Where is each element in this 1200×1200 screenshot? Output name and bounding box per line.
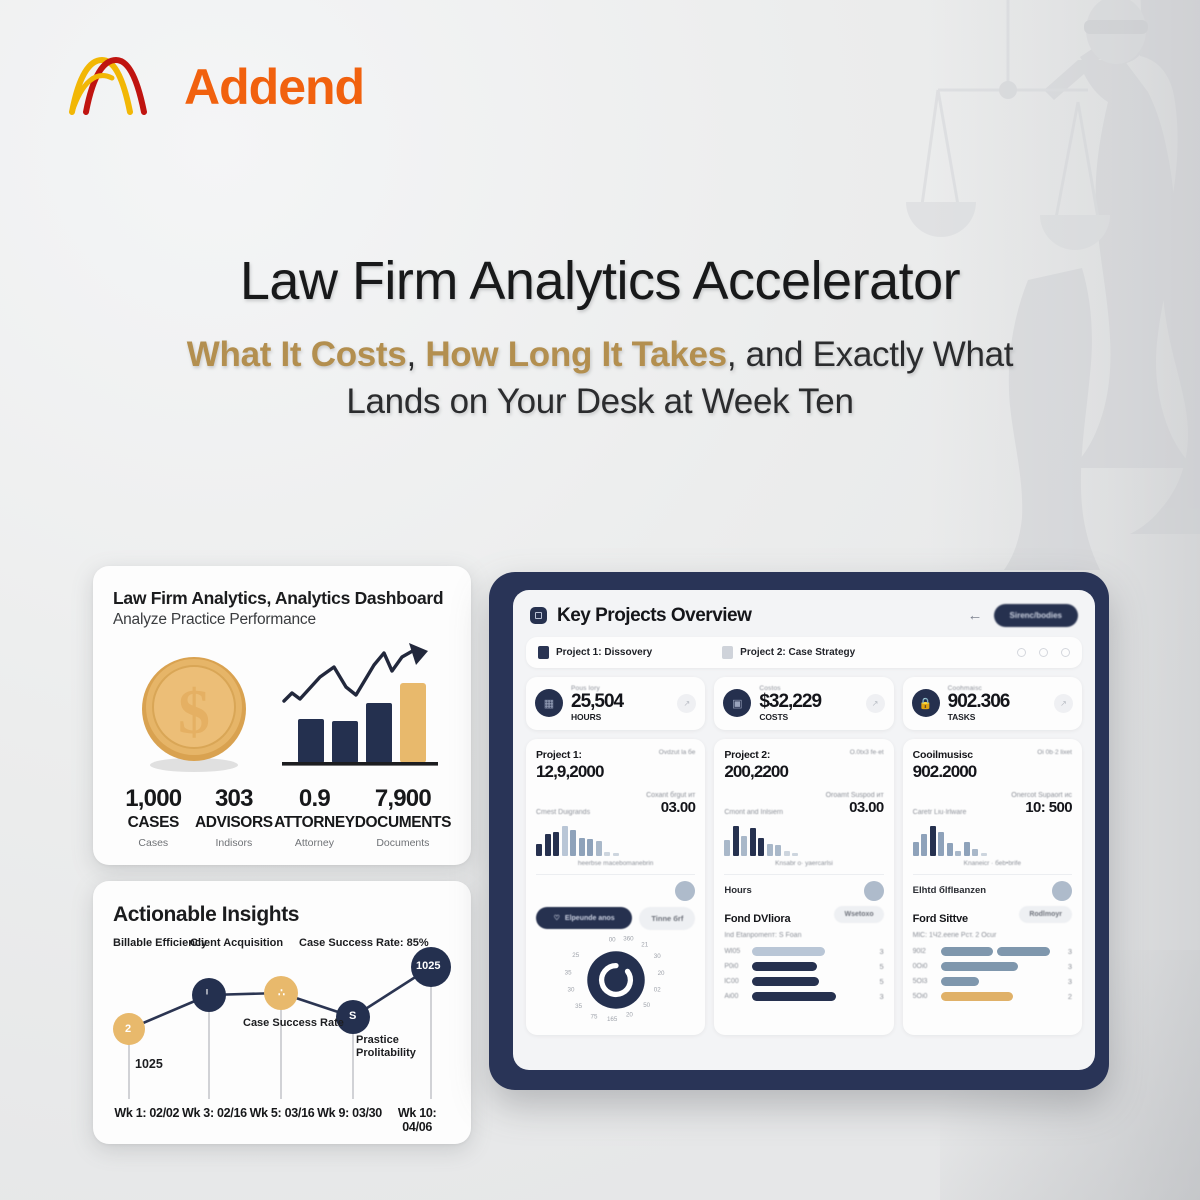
kpi-value: 902.306 [948, 692, 1046, 712]
panel-mid: Cmest Duigrands Coxant бrgut ит 03.00 [536, 792, 695, 816]
panel-gauge-wrap: 0036021 302002 5020165 753530 3525 [536, 934, 695, 1026]
spark-bar [741, 836, 747, 856]
spark-bar [955, 851, 961, 856]
spark-bar [758, 838, 764, 856]
divider [536, 874, 695, 875]
svg-text:02: 02 [653, 986, 660, 993]
bar-row-label: 5Oi0 [913, 993, 935, 1000]
profit-line-1: Prastice [356, 1034, 399, 1046]
kpi-value: 25,504 [571, 692, 669, 712]
bar-list-row: Αi003 [724, 992, 883, 1001]
calendar-icon: ▦ [535, 689, 563, 717]
tablet-screen: Key Projects Overview ← Sirenc/bodies Pr… [513, 590, 1095, 1070]
bar-list-row: Р0i05 [724, 962, 883, 971]
bar-list-row: 5Oi02 [913, 992, 1072, 1001]
spark-bar [562, 826, 568, 856]
insights-card-title: Actionable Insights [113, 903, 451, 927]
bar-row-track [941, 977, 1058, 986]
panel-mid-right: Oroamt Suspod ит 03.00 [826, 792, 884, 816]
analytics-card-title: Law Firm Analytics, Analytics Dashboard [113, 588, 451, 609]
spark-bar [536, 844, 542, 856]
kpi-micro-label: Coohmaisc [948, 685, 1046, 692]
spark-bar [545, 834, 551, 856]
brand-name: Addend [184, 62, 364, 112]
timeline-node-4-text: S [349, 1010, 356, 1022]
panel-bar-list-3: 90l230Oi035Ol335Oi02 [913, 947, 1072, 1001]
analytics-summary-card: Law Firm Analytics, Analytics Dashboard … [93, 566, 471, 865]
clipboard-icon [538, 646, 549, 659]
week-marker: Wk 5: 03/16 [248, 1106, 316, 1134]
panel-micro-row: MlC: 1Ч2.eerie Рcт. 2 Ocur [913, 932, 1072, 939]
spark-bar [553, 832, 559, 856]
insights-week-axis: Wk 1: 02/02 Wk 3: 02/16 Wk 5: 03/16 Wk 9… [113, 1106, 451, 1134]
trend-up-icon: ↗ [866, 694, 885, 713]
tab-project-2[interactable]: Project 2: Case Strategy [722, 646, 855, 659]
bar-row-track [752, 977, 869, 986]
panel-project-1: Project 1: 12,9,2000 Ovdzut la бе Cmest … [526, 739, 705, 1035]
week-marker: Wk 3: 02/16 [181, 1106, 249, 1134]
panel-mid: Caretr Liu·lrlware Onercot Supaort ис 10… [913, 792, 1072, 816]
stat-note: Attorney [274, 837, 355, 849]
panel-project-2: Project 2: 200,2200 O.0tx3 fe·et Cmont a… [714, 739, 893, 1035]
panel-sparkline-2 [724, 822, 883, 856]
stat-label: ADVISORS [194, 814, 275, 832]
panel-project-3: Cooilmusisc 902.2000 Oi 0b·2 lixet Caret… [903, 739, 1082, 1035]
status-dot [675, 881, 695, 901]
bar-row-value: 5 [876, 962, 884, 971]
profit-line-2: Prolitability [356, 1047, 416, 1059]
kpi-micro-label: Costos [759, 685, 857, 692]
svg-text:21: 21 [641, 941, 648, 948]
spark-bar [921, 834, 927, 856]
panel-top: Cooilmusisc 902.2000 Oi 0b·2 lixet [913, 749, 1072, 782]
stat-advisors: 303 ADVISORS Indisors [194, 785, 275, 849]
spark-bar [784, 851, 790, 856]
insight-label-client: Client Acquisition [190, 937, 283, 949]
panel-mid-label: Caretr Liu·lrlware [913, 809, 967, 816]
stat-value: 0.9 [274, 785, 355, 813]
bar-row-fill [752, 992, 835, 1001]
spark-bar [604, 852, 610, 856]
bar-row-track [752, 947, 869, 956]
dashboard-grid-icon [530, 607, 547, 624]
tab-bar-icons [1017, 648, 1070, 657]
growth-chart-illustration [270, 635, 445, 775]
actionable-insights-card: Actionable Insights [93, 881, 471, 1144]
insight-label-profitability: Prastice Prolitability [356, 1034, 416, 1061]
double-arch-logo-icon [66, 56, 172, 118]
divider [724, 874, 883, 875]
bar-row-label: lС00 [724, 978, 746, 985]
bar-row-value: 3 [876, 992, 884, 1001]
spark-bar [733, 826, 739, 856]
bar-row-track [752, 962, 869, 971]
bar-row-label: 5Ol3 [913, 978, 935, 985]
dashboard-kpi-row: ▦ Pous lory 25,504 HOURS ↗ ▣ Costos $32,… [526, 677, 1082, 730]
bar-list-row: 0Oi03 [913, 962, 1072, 971]
svg-text:$: $ [178, 676, 210, 747]
panel-micro-right: Oi 0b·2 lixet [1037, 749, 1072, 756]
brand-logo[interactable]: Addend [66, 56, 364, 118]
bar-row-value: 3 [1064, 977, 1072, 986]
panel-mid-right: Onercot Supaort ис 10: 500 [1011, 792, 1072, 816]
kpi-card-hours[interactable]: ▦ Pous lory 25,504 HOURS ↗ [526, 677, 705, 730]
stat-label: DOCUMENTS [355, 814, 451, 832]
spark-bar [972, 849, 978, 856]
week-marker: Wk 1: 02/02 [113, 1106, 181, 1134]
bar-row-value: 3 [1064, 962, 1072, 971]
growth-bar-chart-icon [270, 635, 445, 775]
spark-bar [750, 828, 756, 856]
spark-bar [947, 843, 953, 856]
panel-subsection-title: Fond DVliora [724, 913, 790, 925]
stat-note: Documents [355, 837, 451, 849]
svg-text:35: 35 [575, 1003, 582, 1010]
panel-metric-value: 10: 500 [1011, 799, 1072, 816]
spark-bar [570, 830, 576, 856]
panel-metric-value: 03.00 [646, 799, 695, 816]
dollar-coin-icon: $ [130, 647, 258, 775]
bar-row-track [752, 992, 869, 1001]
insights-timeline: Billable Efficiency Client Acquisition C… [113, 929, 451, 1104]
week-marker: Wk 10: 04/06 [383, 1106, 451, 1134]
stat-documents: 7,900 DOCUMENTS Documents [355, 785, 451, 849]
tablet-device-frame: Key Projects Overview ← Sirenc/bodies Pr… [489, 572, 1109, 1090]
power-dial-icon[interactable]: 0036021 302002 5020165 753530 3525 [560, 934, 672, 1026]
arrow-left-icon[interactable]: ← [968, 607, 983, 624]
panel-top: Project 1: 12,9,2000 Ovdzut la бе [536, 749, 695, 782]
kpi-unit: TASKS [948, 712, 1046, 722]
panel-metric-value: 03.00 [826, 799, 884, 816]
sparkline-caption: Knsabr o· уаеrcarlsi [724, 860, 883, 867]
panel-mid-right: Coxant бrgut ит 03.00 [646, 792, 695, 816]
info-icon[interactable] [1039, 648, 1048, 657]
panel-bar-list-2: Wl053Р0i05lС005Αi003 [724, 947, 883, 1001]
insight-label-success: Case Success Rate [243, 1017, 344, 1029]
panel-mid-label: Cmont and Inlsiern [724, 809, 783, 816]
timeline-node-3-text: ∴ [278, 986, 285, 999]
panel-subsection-title: Ford Sittve [913, 913, 968, 925]
briefcase-icon: ▣ [723, 689, 751, 717]
svg-text:165: 165 [607, 1016, 618, 1023]
panel-sparkline-1 [536, 822, 695, 856]
svg-text:30: 30 [653, 953, 660, 960]
kpi-unit: COSTS [759, 712, 857, 722]
bar-row-label: Wl05 [724, 948, 746, 955]
circle-icon[interactable] [1061, 648, 1070, 657]
kpi-micro-label: Pous lory [571, 685, 669, 692]
spark-bar [964, 842, 970, 856]
bar-row-label: Αi00 [724, 993, 746, 1000]
analytics-card-subtitle: Analyze Practice Performance [113, 611, 451, 629]
svg-text:35: 35 [564, 969, 571, 976]
share-button[interactable]: Sirenc/bodies [994, 604, 1078, 627]
dashboard-panel-row: Project 1: 12,9,2000 Ovdzut la бе Cmest … [526, 739, 1082, 1035]
analytics-stats-row: 1,000 CASES Cases 303 ADVISORS Indisors … [113, 785, 451, 849]
trend-up-icon: ↗ [677, 694, 696, 713]
kpi-body: Costos $32,229 COSTS [759, 685, 857, 722]
bar-list-row: 90l23 [913, 947, 1072, 956]
project-tabs-bar: Project 1: Dissovery Project 2: Case Str… [526, 637, 1082, 668]
panel-value: 12,9,2000 [536, 762, 604, 782]
panel-section-label: Elhtd бlflвanzen [913, 885, 986, 896]
heart-icon: ♡ [554, 914, 560, 922]
subtitle-highlight-costs: What It Costs [187, 335, 407, 374]
bar-row-label: Р0i0 [724, 963, 746, 970]
page-subtitle: What It Costs, How Long It Takes, and Ex… [0, 332, 1200, 425]
bar-row-fill [941, 992, 1014, 1001]
dashboard-header: Key Projects Overview ← Sirenc/bodies [526, 602, 1082, 637]
spark-bar [596, 841, 602, 856]
panel-top: Project 2: 200,2200 O.0tx3 fe·et [724, 749, 883, 782]
bar-row-value: 3 [1064, 947, 1072, 956]
spark-bar [613, 853, 619, 856]
status-dot [1052, 881, 1072, 901]
panel-micro-right: O.0tx3 fe·et [850, 749, 884, 756]
stat-value: 1,000 [113, 785, 194, 813]
kpi-unit: HOURS [571, 712, 669, 722]
kpi-body: Pous lory 25,504 HOURS [571, 685, 669, 722]
bar-row-track [941, 962, 1058, 971]
spark-bar [775, 845, 781, 856]
spark-bar [587, 839, 593, 856]
bar-row-label: 0Oi0 [913, 963, 935, 970]
tab-label: Project 1: Dissovery [556, 647, 652, 658]
coin-illustration: $ [119, 647, 269, 775]
stat-value: 303 [194, 785, 275, 813]
button-label: Elpeunde anos [565, 915, 615, 922]
sparkline-caption: Knaneicr · бeb•brife [913, 860, 1072, 867]
svg-text:30: 30 [567, 986, 574, 993]
page-title: Law Firm Analytics Accelerator [0, 250, 1200, 312]
analytics-illustrations: $ [113, 635, 451, 775]
panel-name: Cooilmusisc [913, 749, 977, 761]
panel-mid-micro: Onercot Supaort ис [1011, 792, 1072, 799]
bar-row-value: 5 [876, 977, 884, 986]
spark-bar [724, 840, 730, 856]
insight-value-left: 1025 [135, 1057, 163, 1071]
bar-list-row: Wl053 [724, 947, 883, 956]
svg-text:20: 20 [626, 1011, 633, 1018]
stat-note: Cases [113, 837, 194, 849]
stat-value: 7,900 [355, 785, 451, 813]
spark-bar [938, 832, 944, 856]
spark-bar [579, 838, 585, 856]
stat-label: ATTORNEY [274, 814, 355, 832]
dashboard-title: Key Projects Overview [557, 605, 751, 627]
svg-text:75: 75 [590, 1013, 597, 1020]
bar-row-fill [941, 947, 994, 956]
stat-label: CASES [113, 814, 194, 832]
week-marker: Wk 9: 03/30 [316, 1106, 384, 1134]
timeline-node-1-text: 2 [125, 1023, 131, 1035]
bar-row-label: 90l2 [913, 948, 935, 955]
bar-row-fill [941, 962, 1018, 971]
kpi-value: $32,229 [759, 692, 857, 712]
panel-name: Project 1: [536, 749, 604, 761]
spark-bar [792, 853, 798, 856]
panel-chip-button[interactable]: Rodlmoyr [1019, 906, 1072, 923]
bar-list-row: 5Ol33 [913, 977, 1072, 986]
panel-mid-micro: Oroamt Suspod ит [826, 792, 884, 799]
panel-secondary-button[interactable]: Tinne бrf [639, 907, 695, 930]
kpi-body: Coohmaisc 902.306 TASKS [948, 685, 1046, 722]
divider [913, 874, 1072, 875]
timeline-node-5-text: 1025 [416, 960, 440, 972]
panel-name: Project 2: [724, 749, 788, 761]
spark-bar [913, 842, 919, 856]
bar-row-value: 2 [1064, 992, 1072, 1001]
stat-note: Indisors [194, 837, 275, 849]
panel-mid-micro: Coxant бrgut ит [646, 792, 695, 799]
svg-text:360: 360 [623, 936, 634, 943]
lock-icon: 🔒 [912, 689, 940, 717]
status-dot [864, 881, 884, 901]
bar-row-fill [752, 947, 825, 956]
panel-chip-button[interactable]: Wsetoxo [834, 906, 883, 923]
panel-button-row: ♡ Elpeunde anos Tinne бrf [536, 907, 695, 930]
svg-text:20: 20 [657, 970, 664, 977]
timeline-node-2-text: ᴵ [206, 988, 208, 1000]
panel-section-label: Hours [724, 885, 751, 896]
panel-primary-button[interactable]: ♡ Elpeunde anos [536, 907, 632, 929]
trend-up-icon: ↗ [1054, 694, 1073, 713]
bar-list-row: lС005 [724, 977, 883, 986]
insight-label-success-pct: Case Success Rate: 85% [299, 937, 429, 949]
svg-text:50: 50 [643, 1002, 650, 1009]
stat-cases: 1,000 CASES Cases [113, 785, 194, 849]
circle-icon[interactable] [1017, 648, 1026, 657]
panel-mid-label: Cmest Duigrands [536, 809, 590, 816]
panel-value: 902.2000 [913, 762, 977, 782]
bar-row-fill [941, 977, 980, 986]
kpi-card-tasks[interactable]: 🔒 Coohmaisc 902.306 TASKS ↗ [903, 677, 1082, 730]
kpi-card-costs[interactable]: ▣ Costos $32,229 COSTS ↗ [714, 677, 893, 730]
bar-row-track [941, 992, 1058, 1001]
spark-bar [930, 826, 936, 856]
bar-row-track [941, 947, 1058, 956]
bar-row-fill [752, 977, 819, 986]
panel-micro-row: Ind Etanpomenт: S Foan [724, 932, 883, 939]
panel-mid: Cmont and Inlsiern Oroamt Suspod ит 03.0… [724, 792, 883, 816]
spark-bar [767, 844, 773, 856]
filter-icon [722, 646, 733, 659]
stat-attorney: 0.9 ATTORNEY Attorney [274, 785, 355, 849]
bar-row-fill [997, 947, 1050, 956]
svg-text:25: 25 [572, 952, 579, 959]
spark-bar [981, 853, 987, 856]
sparkline-caption: heerbse macebomanebrin [536, 860, 695, 867]
dashboard-header-actions: ← Sirenc/bodies [968, 604, 1078, 627]
panel-micro-right: Ovdzut la бе [659, 749, 696, 756]
hero-text-block: Law Firm Analytics Accelerator What It C… [0, 250, 1200, 425]
bar-row-value: 3 [876, 947, 884, 956]
tab-label: Project 2: Case Strategy [740, 647, 855, 658]
bar-row-fill [752, 962, 817, 971]
svg-text:00: 00 [608, 937, 615, 944]
tab-project-1[interactable]: Project 1: Dissovery [538, 646, 652, 659]
panel-value: 200,2200 [724, 762, 788, 782]
left-cards-column: Law Firm Analytics, Analytics Dashboard … [93, 566, 471, 1144]
panel-sparkline-3 [913, 822, 1072, 856]
subtitle-highlight-duration: How Long It Takes [425, 335, 727, 374]
